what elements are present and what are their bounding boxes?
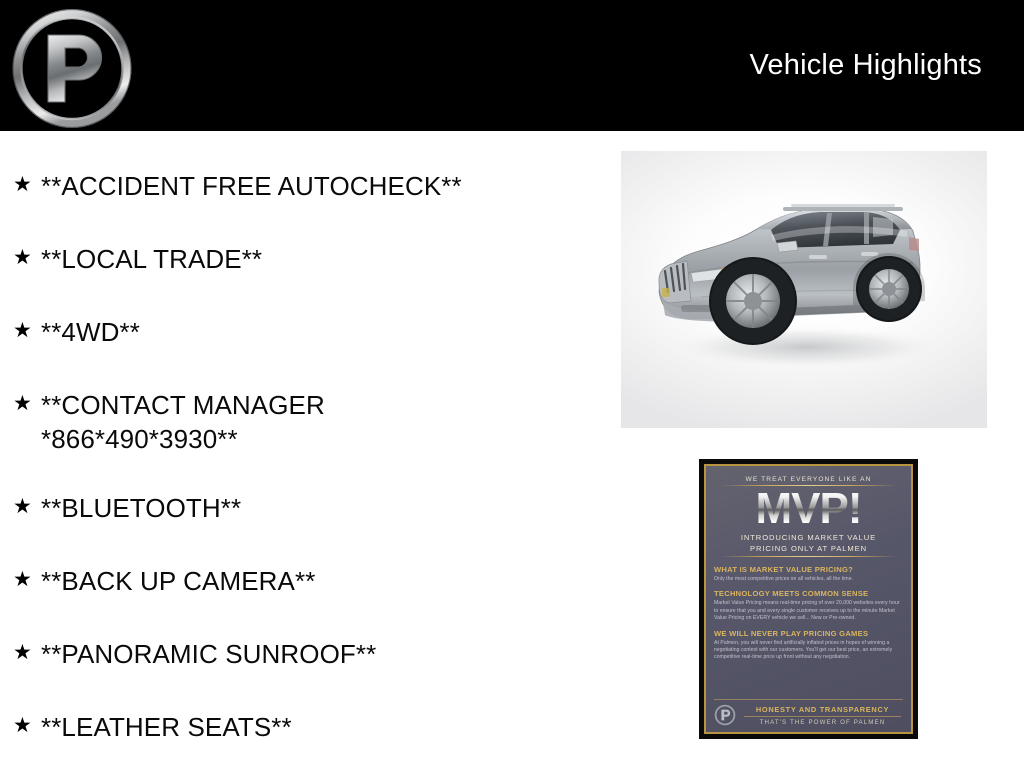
highlight-text: **LEATHER SEATS** [41, 710, 292, 744]
mvp-poster-footer: HONESTY AND TRANSPARENCY THAT'S THE POWE… [714, 699, 903, 726]
mvp-section-body: At Palmen, you will never find artificia… [714, 640, 903, 662]
star-bullet-icon: ★ [13, 388, 41, 420]
mvp-footer-text: HONESTY AND TRANSPARENCY THAT'S THE POWE… [742, 705, 903, 726]
mvp-section-heading: TECHNOLOGY MEETS COMMON SENSE [714, 589, 903, 598]
mvp-body-sections: WHAT IS MARKET VALUE PRICING? Only the m… [714, 565, 903, 694]
list-item: ★ **PANORAMIC SUNROOF** [13, 637, 593, 671]
mvp-section-body: Market Value Pricing means real-time pri… [714, 600, 903, 622]
mvp-footer-line-2: THAT'S THE POWER OF PALMEN [742, 719, 903, 726]
highlight-text: **BACK UP CAMERA** [41, 564, 315, 598]
list-item: ★ **4WD** [13, 315, 593, 349]
star-bullet-icon: ★ [13, 169, 41, 201]
mvp-footer-line-1: HONESTY AND TRANSPARENCY [742, 705, 903, 714]
highlight-text: **4WD** [41, 315, 140, 349]
page-header: Vehicle Highlights [0, 0, 1024, 131]
list-item: ★ **ACCIDENT FREE AUTOCHECK** [13, 169, 593, 203]
star-bullet-icon: ★ [13, 637, 41, 669]
mvp-footer-divider [744, 716, 901, 717]
mvp-eyebrow-text: WE TREAT EVERYONE LIKE AN [714, 476, 903, 483]
palmen-seal-icon [714, 704, 736, 726]
star-bullet-icon: ★ [13, 491, 41, 523]
list-item: ★ **BLUETOOTH** [13, 491, 593, 525]
vehicle-highlights-list: ★ **ACCIDENT FREE AUTOCHECK** ★ **LOCAL … [0, 131, 600, 768]
mvp-subheadline: INTRODUCING MARKET VALUE PRICING ONLY AT… [714, 532, 903, 554]
list-item: ★ **CONTACT MANAGER *866*490*3930** [13, 388, 593, 456]
list-item: ★ **LOCAL TRADE** [13, 242, 593, 276]
list-item: ★ **BACK UP CAMERA** [13, 564, 593, 598]
highlight-text: **BLUETOOTH** [41, 491, 241, 525]
mvp-section-heading: WE WILL NEVER PLAY PRICING GAMES [714, 629, 903, 638]
mvp-divider [720, 556, 897, 557]
star-bullet-icon: ★ [13, 315, 41, 347]
page-title: Vehicle Highlights [749, 48, 982, 82]
list-item: ★ **LEATHER SEATS** [13, 710, 593, 744]
star-bullet-icon: ★ [13, 710, 41, 742]
highlight-text: **PANORAMIC SUNROOF** [41, 637, 376, 671]
star-bullet-icon: ★ [13, 242, 41, 274]
mvp-section-heading: WHAT IS MARKET VALUE PRICING? [714, 565, 903, 574]
mvp-headline: MVP! [714, 487, 903, 531]
highlight-text: **ACCIDENT FREE AUTOCHECK** [41, 169, 462, 203]
highlight-text: **LOCAL TRADE** [41, 242, 262, 276]
palmen-logo-icon [12, 9, 132, 128]
mvp-section-body: Only the most competitive prices on all … [714, 576, 903, 583]
star-bullet-icon: ★ [13, 564, 41, 596]
highlight-text: **CONTACT MANAGER *866*490*3930** [41, 388, 325, 456]
mvp-pricing-poster[interactable]: WE TREAT EVERYONE LIKE AN MVP! INTRODUCI… [699, 459, 918, 739]
vehicle-photo[interactable] [621, 151, 987, 428]
mvp-poster-frame: WE TREAT EVERYONE LIKE AN MVP! INTRODUCI… [704, 464, 913, 734]
